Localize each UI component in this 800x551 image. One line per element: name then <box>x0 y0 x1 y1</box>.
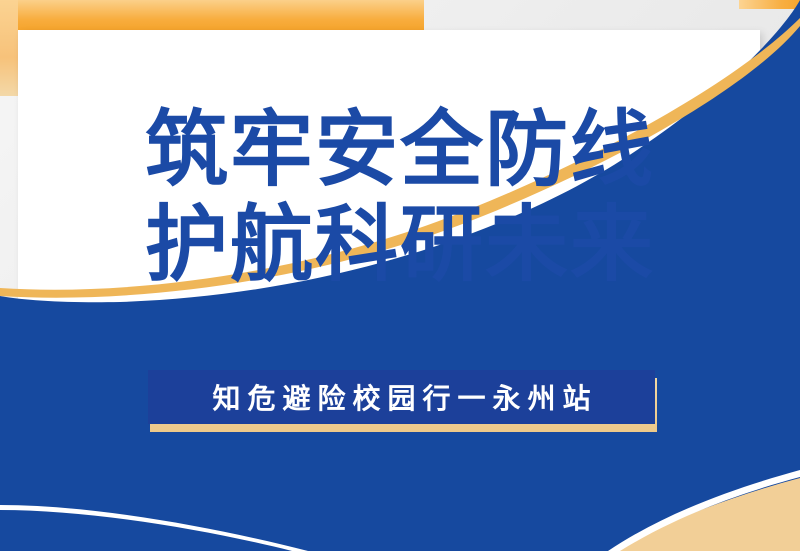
banner-bar: 知危避险校园行一永州站 <box>148 370 655 424</box>
banner-label: 知危避险校园行一永州站 <box>205 377 597 417</box>
headline-line-1: 筑牢安全防线 <box>145 103 655 196</box>
poster-canvas: 筑牢安全防线 护航科研未来 知危避险校园行一永州站 <box>0 0 800 551</box>
subtitle-banner: 知危避险校园行一永州站 <box>148 370 655 424</box>
headline-line-2: 护航科研未来 <box>0 198 800 293</box>
page-title: 筑牢安全防线 护航科研未来 <box>0 103 800 292</box>
